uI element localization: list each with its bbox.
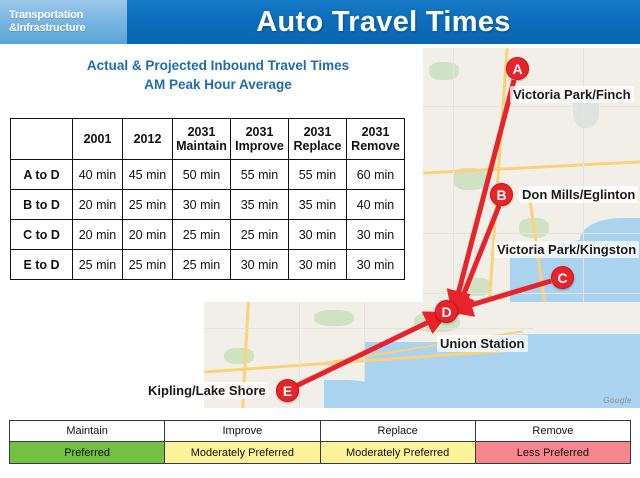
table-cell-3-2: 25 min bbox=[173, 250, 231, 280]
table-row: A to D 40 min 45 min 50 min 55 min 55 mi… bbox=[11, 160, 405, 190]
table-cell-1-0: 20 min bbox=[73, 190, 123, 220]
map-marker-c-letter: C bbox=[557, 270, 567, 286]
map-label-don-mills-eglinton: Don Mills/Eglinton bbox=[519, 186, 638, 203]
map-road-minor-1 bbox=[423, 106, 640, 107]
table-col-header-3: 2031 Improve bbox=[231, 119, 289, 160]
legend-value-replace: Moderately Preferred bbox=[320, 442, 475, 464]
table-cell-1-1: 25 min bbox=[123, 190, 173, 220]
table-cell-2-1: 20 min bbox=[123, 220, 173, 250]
table-corner-cell bbox=[11, 119, 73, 160]
org-logo-line1: Transportation bbox=[9, 9, 127, 22]
table-cell-1-5: 40 min bbox=[347, 190, 405, 220]
map-road-s-minor-3 bbox=[364, 302, 365, 382]
table-row-label-1: B to D bbox=[11, 190, 73, 220]
table-cell-2-4: 30 min bbox=[289, 220, 347, 250]
page-title: Auto Travel Times bbox=[127, 0, 640, 44]
map-panel-south[interactable]: Google bbox=[204, 302, 640, 408]
chart-subtitle-line1: Actual & Projected Inbound Travel Times bbox=[12, 56, 424, 75]
table-col-header-5-top: 2031 bbox=[347, 125, 404, 139]
legend-header-improve: Improve bbox=[165, 421, 320, 442]
table-row: B to D 20 min 25 min 30 min 35 min 35 mi… bbox=[11, 190, 405, 220]
map-marker-e[interactable]: E bbox=[276, 379, 299, 402]
table-row-label-0: A to D bbox=[11, 160, 73, 190]
table-cell-3-3: 30 min bbox=[231, 250, 289, 280]
legend-value-improve: Moderately Preferred bbox=[165, 442, 320, 464]
table-row: C to D 20 min 20 min 25 min 25 min 30 mi… bbox=[11, 220, 405, 250]
map-marker-c[interactable]: C bbox=[551, 266, 574, 289]
map-marker-a[interactable]: A bbox=[506, 57, 529, 80]
table-col-header-2-top: 2031 bbox=[173, 125, 230, 139]
table-cell-0-1: 45 min bbox=[123, 160, 173, 190]
chart-subtitle-line2: AM Peak Hour Average bbox=[12, 75, 424, 94]
table-cell-0-3: 55 min bbox=[231, 160, 289, 190]
table-cell-3-0: 25 min bbox=[73, 250, 123, 280]
legend-header-row: Maintain Improve Replace Remove bbox=[10, 421, 631, 442]
map-label-kipling-lake-shore: Kipling/Lake Shore bbox=[145, 382, 269, 399]
map-label-victoria-park-finch: Victoria Park/Finch bbox=[510, 86, 634, 103]
table-col-header-4-top: 2031 bbox=[289, 125, 346, 139]
table-cell-1-4: 35 min bbox=[289, 190, 347, 220]
org-logo: Transportation &Infrastructure bbox=[0, 0, 127, 44]
chart-subtitle: Actual & Projected Inbound Travel Times … bbox=[12, 56, 424, 94]
table-col-header-1: 2012 bbox=[123, 119, 173, 160]
table-row: E to D 25 min 25 min 25 min 30 min 30 mi… bbox=[11, 250, 405, 280]
table-col-header-3-bottom: Improve bbox=[231, 139, 288, 153]
table-col-header-0-top: 2001 bbox=[73, 132, 122, 146]
table-cell-3-4: 30 min bbox=[289, 250, 347, 280]
table-cell-1-2: 30 min bbox=[173, 190, 231, 220]
table-col-header-2: 2031 Maintain bbox=[173, 119, 231, 160]
preference-legend-body: Maintain Improve Replace Remove Preferre… bbox=[10, 421, 631, 464]
map-background-south bbox=[204, 302, 640, 408]
table-col-header-4-bottom: Replace bbox=[289, 139, 346, 153]
map-marker-e-letter: E bbox=[283, 383, 292, 399]
table-cell-0-2: 50 min bbox=[173, 160, 231, 190]
map-road-s-minor-2 bbox=[299, 302, 300, 408]
map-marker-b[interactable]: B bbox=[490, 183, 513, 206]
table-row-label-3: E to D bbox=[11, 250, 73, 280]
table-col-header-1-top: 2012 bbox=[123, 132, 172, 146]
header-bar: Transportation &Infrastructure Auto Trav… bbox=[0, 0, 640, 44]
map-label-victoria-park-kingston: Victoria Park/Kingston bbox=[494, 241, 639, 258]
table-row-label-2: C to D bbox=[11, 220, 73, 250]
map-road-s-minor-1 bbox=[204, 328, 534, 329]
table-cell-1-3: 35 min bbox=[231, 190, 289, 220]
travel-times-table-head: 2001 2012 2031 Maintain 2031 Improve bbox=[11, 119, 405, 160]
legend-header-maintain: Maintain bbox=[10, 421, 165, 442]
table-cell-2-2: 25 min bbox=[173, 220, 231, 250]
legend-header-remove: Remove bbox=[475, 421, 630, 442]
map-marker-d[interactable]: D bbox=[435, 300, 458, 323]
table-col-header-5: 2031 Remove bbox=[347, 119, 405, 160]
table-cell-2-5: 30 min bbox=[347, 220, 405, 250]
table-cell-3-5: 30 min bbox=[347, 250, 405, 280]
table-cell-2-3: 25 min bbox=[231, 220, 289, 250]
table-header-row: 2001 2012 2031 Maintain 2031 Improve bbox=[11, 119, 405, 160]
preference-legend-wrapper: Maintain Improve Replace Remove Preferre… bbox=[9, 420, 631, 464]
travel-times-table: 2001 2012 2031 Maintain 2031 Improve bbox=[10, 118, 405, 280]
map-park-s3 bbox=[224, 348, 254, 364]
map-park-1 bbox=[429, 62, 459, 80]
legend-value-maintain: Preferred bbox=[10, 442, 165, 464]
map-marker-b-letter: B bbox=[496, 187, 506, 203]
table-col-header-0: 2001 bbox=[73, 119, 123, 160]
slide-root: Transportation &Infrastructure Auto Trav… bbox=[0, 0, 640, 478]
table-col-header-2-bottom: Maintain bbox=[173, 139, 230, 153]
map-marker-d-letter: D bbox=[441, 304, 451, 320]
table-cell-3-1: 25 min bbox=[123, 250, 173, 280]
table-cell-0-4: 55 min bbox=[289, 160, 347, 190]
travel-times-table-body: A to D 40 min 45 min 50 min 55 min 55 mi… bbox=[11, 160, 405, 280]
table-cell-0-5: 60 min bbox=[347, 160, 405, 190]
map-park-s1 bbox=[314, 310, 354, 326]
map-road-minor-3 bbox=[423, 293, 640, 294]
preference-legend-table: Maintain Improve Replace Remove Preferre… bbox=[9, 420, 631, 464]
org-logo-line2: &Infrastructure bbox=[9, 22, 127, 35]
legend-value-remove: Less Preferred bbox=[475, 442, 630, 464]
google-watermark: Google bbox=[603, 396, 632, 405]
table-col-header-4: 2031 Replace bbox=[289, 119, 347, 160]
table-col-header-3-top: 2031 bbox=[231, 125, 288, 139]
map-label-union-station: Union Station bbox=[437, 335, 528, 352]
travel-times-table-wrapper: 2001 2012 2031 Maintain 2031 Improve bbox=[10, 118, 405, 280]
map-road-minor-2 bbox=[423, 233, 640, 234]
table-cell-2-0: 20 min bbox=[73, 220, 123, 250]
table-col-header-5-bottom: Remove bbox=[347, 139, 404, 153]
map-marker-a-letter: A bbox=[512, 61, 522, 77]
table-cell-0-0: 40 min bbox=[73, 160, 123, 190]
legend-value-row: Preferred Moderately Preferred Moderatel… bbox=[10, 442, 631, 464]
legend-header-replace: Replace bbox=[320, 421, 475, 442]
